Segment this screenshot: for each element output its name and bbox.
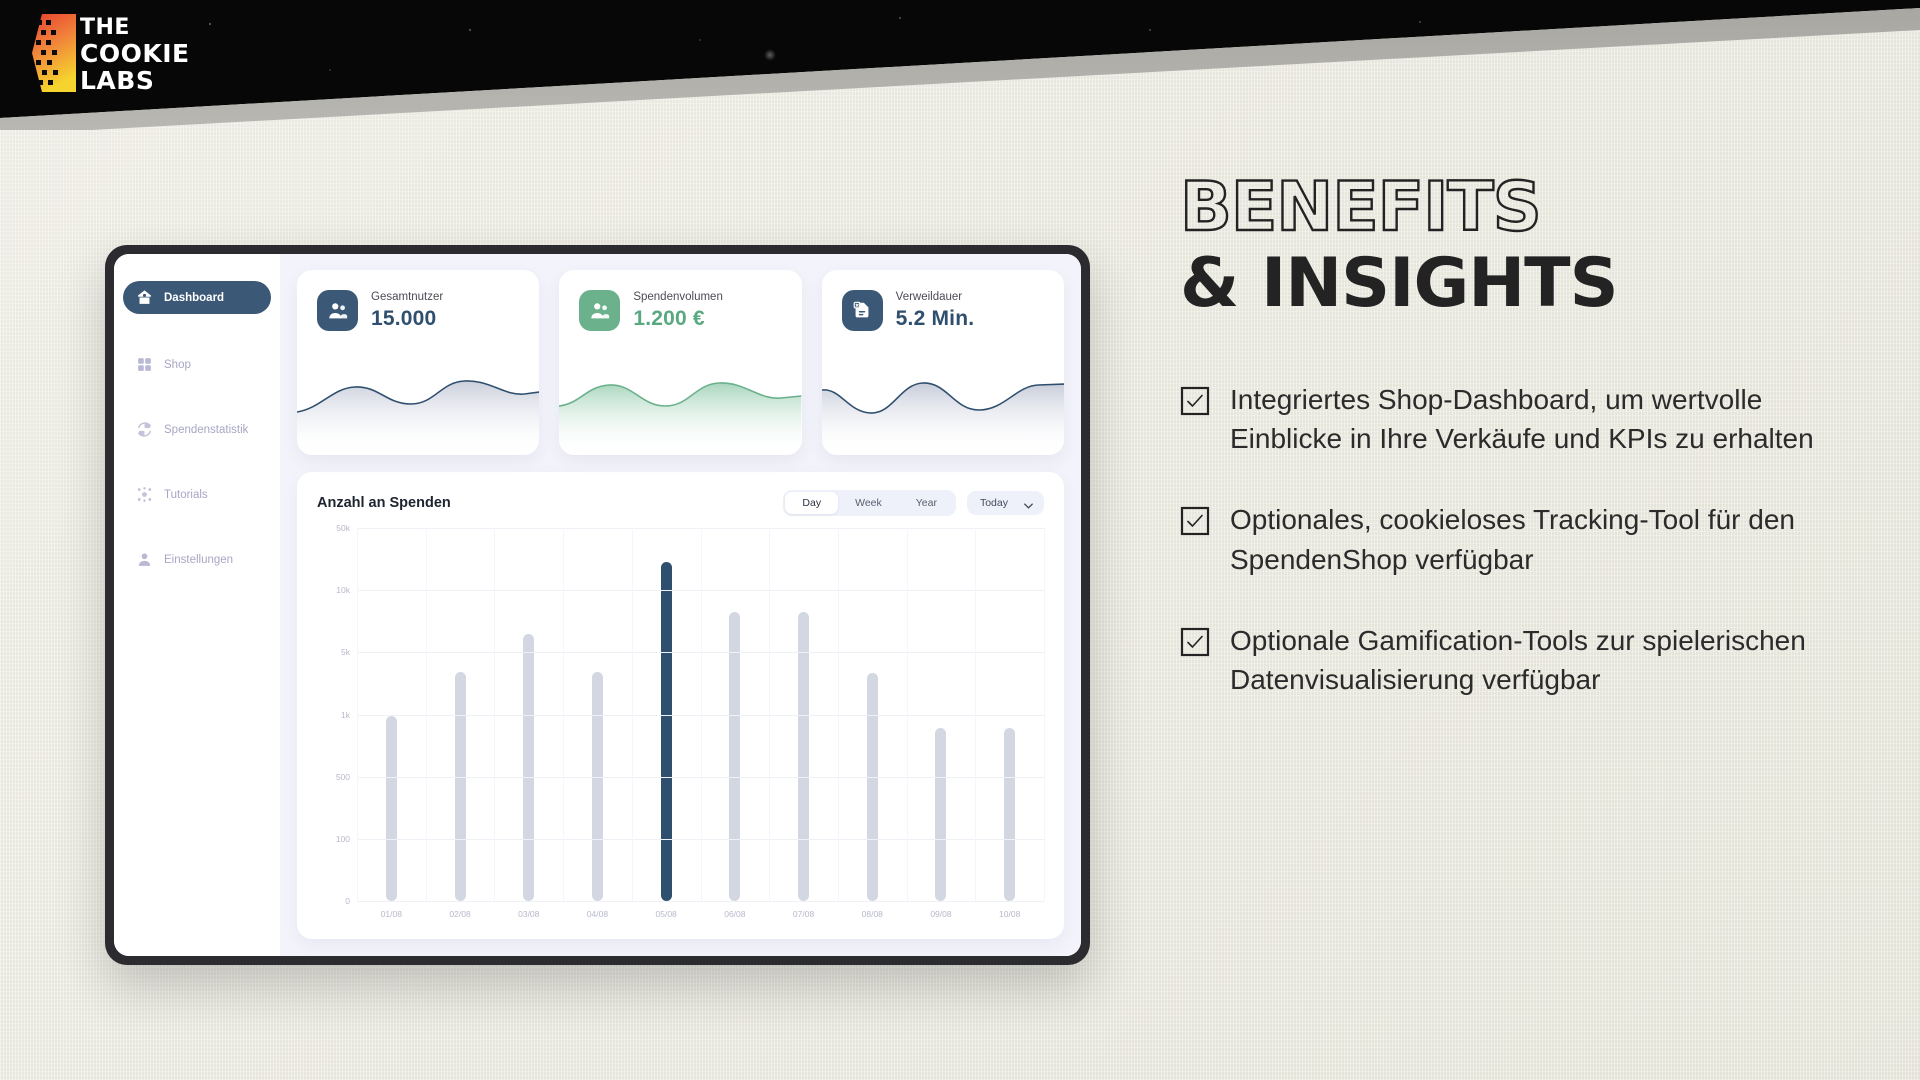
benefit-text: Optionales, cookieloses Tracking-Tool fü…	[1230, 500, 1880, 580]
gridline-vertical	[701, 528, 702, 901]
chart-bar[interactable]	[1004, 728, 1015, 901]
date-dropdown-value: Today	[980, 497, 1008, 509]
sidebar-item-label: Shop	[164, 359, 191, 371]
headline-outline: BENEFITS	[1180, 175, 1880, 242]
dashboard-mockup: Dashboard Shop	[105, 245, 1090, 965]
chevron-down-icon	[1024, 500, 1033, 506]
y-axis: 01005001k5k10k50k	[317, 528, 357, 901]
gridline-vertical	[357, 528, 358, 901]
date-dropdown[interactable]: Today	[967, 491, 1044, 515]
x-axis-tick: 03/08	[494, 909, 563, 919]
stat-card-label: Spendenvolumen	[633, 290, 723, 304]
stat-cards: Gesamtnutzer 15.000	[297, 270, 1064, 455]
benefits-section: BENEFITS & INSIGHTS Integriertes Shop-Da…	[1180, 175, 1880, 700]
logo-wordmark: THE COOKIE LABS	[80, 17, 190, 93]
grid-icon	[136, 356, 153, 373]
x-axis-tick: 07/08	[769, 909, 838, 919]
top-banner: THE COOKIE LABS	[0, 0, 1920, 130]
sidebar-item-spendenstatistik[interactable]: Spendenstatistik	[123, 413, 271, 446]
x-axis-tick: 05/08	[632, 909, 701, 919]
gridline	[357, 901, 1044, 902]
gridline-vertical	[632, 528, 633, 901]
chart-panel-header: Anzahl an Spenden Day Week Year Today	[317, 490, 1044, 516]
chart-bar[interactable]	[455, 672, 466, 901]
sidebar-item-label: Tutorials	[164, 489, 208, 501]
stat-card-value: 15.000	[371, 307, 443, 331]
list-item: Optionales, cookieloses Tracking-Tool fü…	[1180, 500, 1880, 580]
chart-controls: Day Week Year Today	[783, 490, 1044, 516]
sidebar-item-tutorials[interactable]: Tutorials	[123, 478, 271, 511]
sidebar-item-label: Einstellungen	[164, 554, 233, 566]
gridline-vertical	[769, 528, 770, 901]
gridline-vertical	[1044, 528, 1045, 901]
bar-chart: 01005001k5k10k50k	[317, 516, 1044, 901]
range-button-week[interactable]: Week	[838, 492, 899, 514]
x-axis: 01/0802/0803/0804/0805/0806/0807/0808/08…	[317, 901, 1044, 927]
stat-card-gesamtnutzer[interactable]: Gesamtnutzer 15.000	[297, 270, 539, 455]
stat-card-value: 5.2 Min.	[896, 307, 975, 331]
dashboard-main: Gesamtnutzer 15.000	[280, 254, 1081, 956]
x-axis-tick: 10/08	[975, 909, 1044, 919]
sparkline-chart	[559, 360, 801, 455]
x-axis-tick: 02/08	[426, 909, 495, 919]
gridline-vertical	[838, 528, 839, 901]
y-axis-tick: 10k	[336, 585, 350, 595]
sidebar-item-dashboard[interactable]: Dashboard	[123, 281, 271, 314]
stat-card-label: Gesamtnutzer	[371, 290, 443, 304]
gridline-vertical	[494, 528, 495, 901]
sidebar: Dashboard Shop	[114, 254, 280, 956]
user-icon	[136, 551, 153, 568]
gridline-vertical	[426, 528, 427, 901]
checkbox-checked-icon	[1180, 386, 1210, 416]
x-axis-tick: 08/08	[838, 909, 907, 919]
y-axis-tick: 100	[336, 834, 350, 844]
gridline-vertical	[907, 528, 908, 901]
checkbox-checked-icon	[1180, 627, 1210, 657]
x-axis-tick: 09/08	[907, 909, 976, 919]
chart-bar[interactable]	[867, 673, 878, 901]
logo-line-3: LABS	[80, 68, 190, 93]
range-button-day[interactable]: Day	[785, 492, 838, 514]
refresh-icon	[136, 421, 153, 438]
range-button-year[interactable]: Year	[899, 492, 954, 514]
gridline-vertical	[975, 528, 976, 901]
sidebar-item-shop[interactable]: Shop	[123, 348, 271, 381]
headline-solid: & INSIGHTS	[1180, 250, 1880, 318]
logo-mark-icon	[32, 14, 76, 92]
chart-bar[interactable]	[661, 562, 672, 901]
chart-bar[interactable]	[523, 634, 534, 901]
y-axis-tick: 500	[336, 772, 350, 782]
chart-title: Anzahl an Spenden	[317, 495, 451, 511]
chart-bar[interactable]	[729, 612, 740, 901]
gridline-vertical	[563, 528, 564, 901]
y-axis-tick: 5k	[341, 647, 350, 657]
chart-panel: Anzahl an Spenden Day Week Year Today	[297, 472, 1064, 939]
home-icon	[136, 289, 153, 306]
stat-card-value: 1.200 €	[633, 307, 723, 331]
users-icon	[579, 290, 620, 331]
benefit-text: Integriertes Shop-Dashboard, um wertvoll…	[1230, 380, 1880, 460]
sidebar-item-label: Spendenstatistik	[164, 424, 248, 436]
sparkline-chart	[297, 360, 539, 455]
chart-bar[interactable]	[592, 672, 603, 901]
range-segmented-control: Day Week Year	[783, 490, 956, 516]
logo-line-1: THE	[80, 17, 190, 39]
chart-plot-area	[357, 528, 1044, 901]
checkbox-checked-icon	[1180, 506, 1210, 536]
x-axis-tick: 04/08	[563, 909, 632, 919]
sparkline-chart	[822, 360, 1064, 455]
stat-card-verweildauer[interactable]: Verweildauer 5.2 Min.	[822, 270, 1064, 455]
cluster-icon	[136, 486, 153, 503]
chart-bar[interactable]	[798, 612, 809, 901]
chart-bar[interactable]	[386, 716, 397, 901]
y-axis-tick: 50k	[336, 523, 350, 533]
stat-card-spendenvolumen[interactable]: Spendenvolumen 1.200 €	[559, 270, 801, 455]
document-icon	[842, 290, 883, 331]
x-axis-tick: 06/08	[701, 909, 770, 919]
sidebar-item-label: Dashboard	[164, 292, 224, 304]
list-item: Optionale Gamification-Tools zur spieler…	[1180, 621, 1880, 701]
list-item: Integriertes Shop-Dashboard, um wertvoll…	[1180, 380, 1880, 460]
benefit-text: Optionale Gamification-Tools zur spieler…	[1230, 621, 1880, 701]
users-icon	[317, 290, 358, 331]
chart-bar[interactable]	[935, 728, 946, 901]
y-axis-tick: 1k	[341, 710, 350, 720]
stat-card-label: Verweildauer	[896, 290, 975, 304]
logo-line-2: COOKIE	[80, 41, 190, 66]
sidebar-item-einstellungen[interactable]: Einstellungen	[123, 543, 271, 576]
y-axis-tick: 0	[345, 896, 350, 906]
x-axis-tick: 01/08	[357, 909, 426, 919]
brand-logo: THE COOKIE LABS	[32, 14, 182, 92]
benefits-list: Integriertes Shop-Dashboard, um wertvoll…	[1180, 380, 1880, 701]
